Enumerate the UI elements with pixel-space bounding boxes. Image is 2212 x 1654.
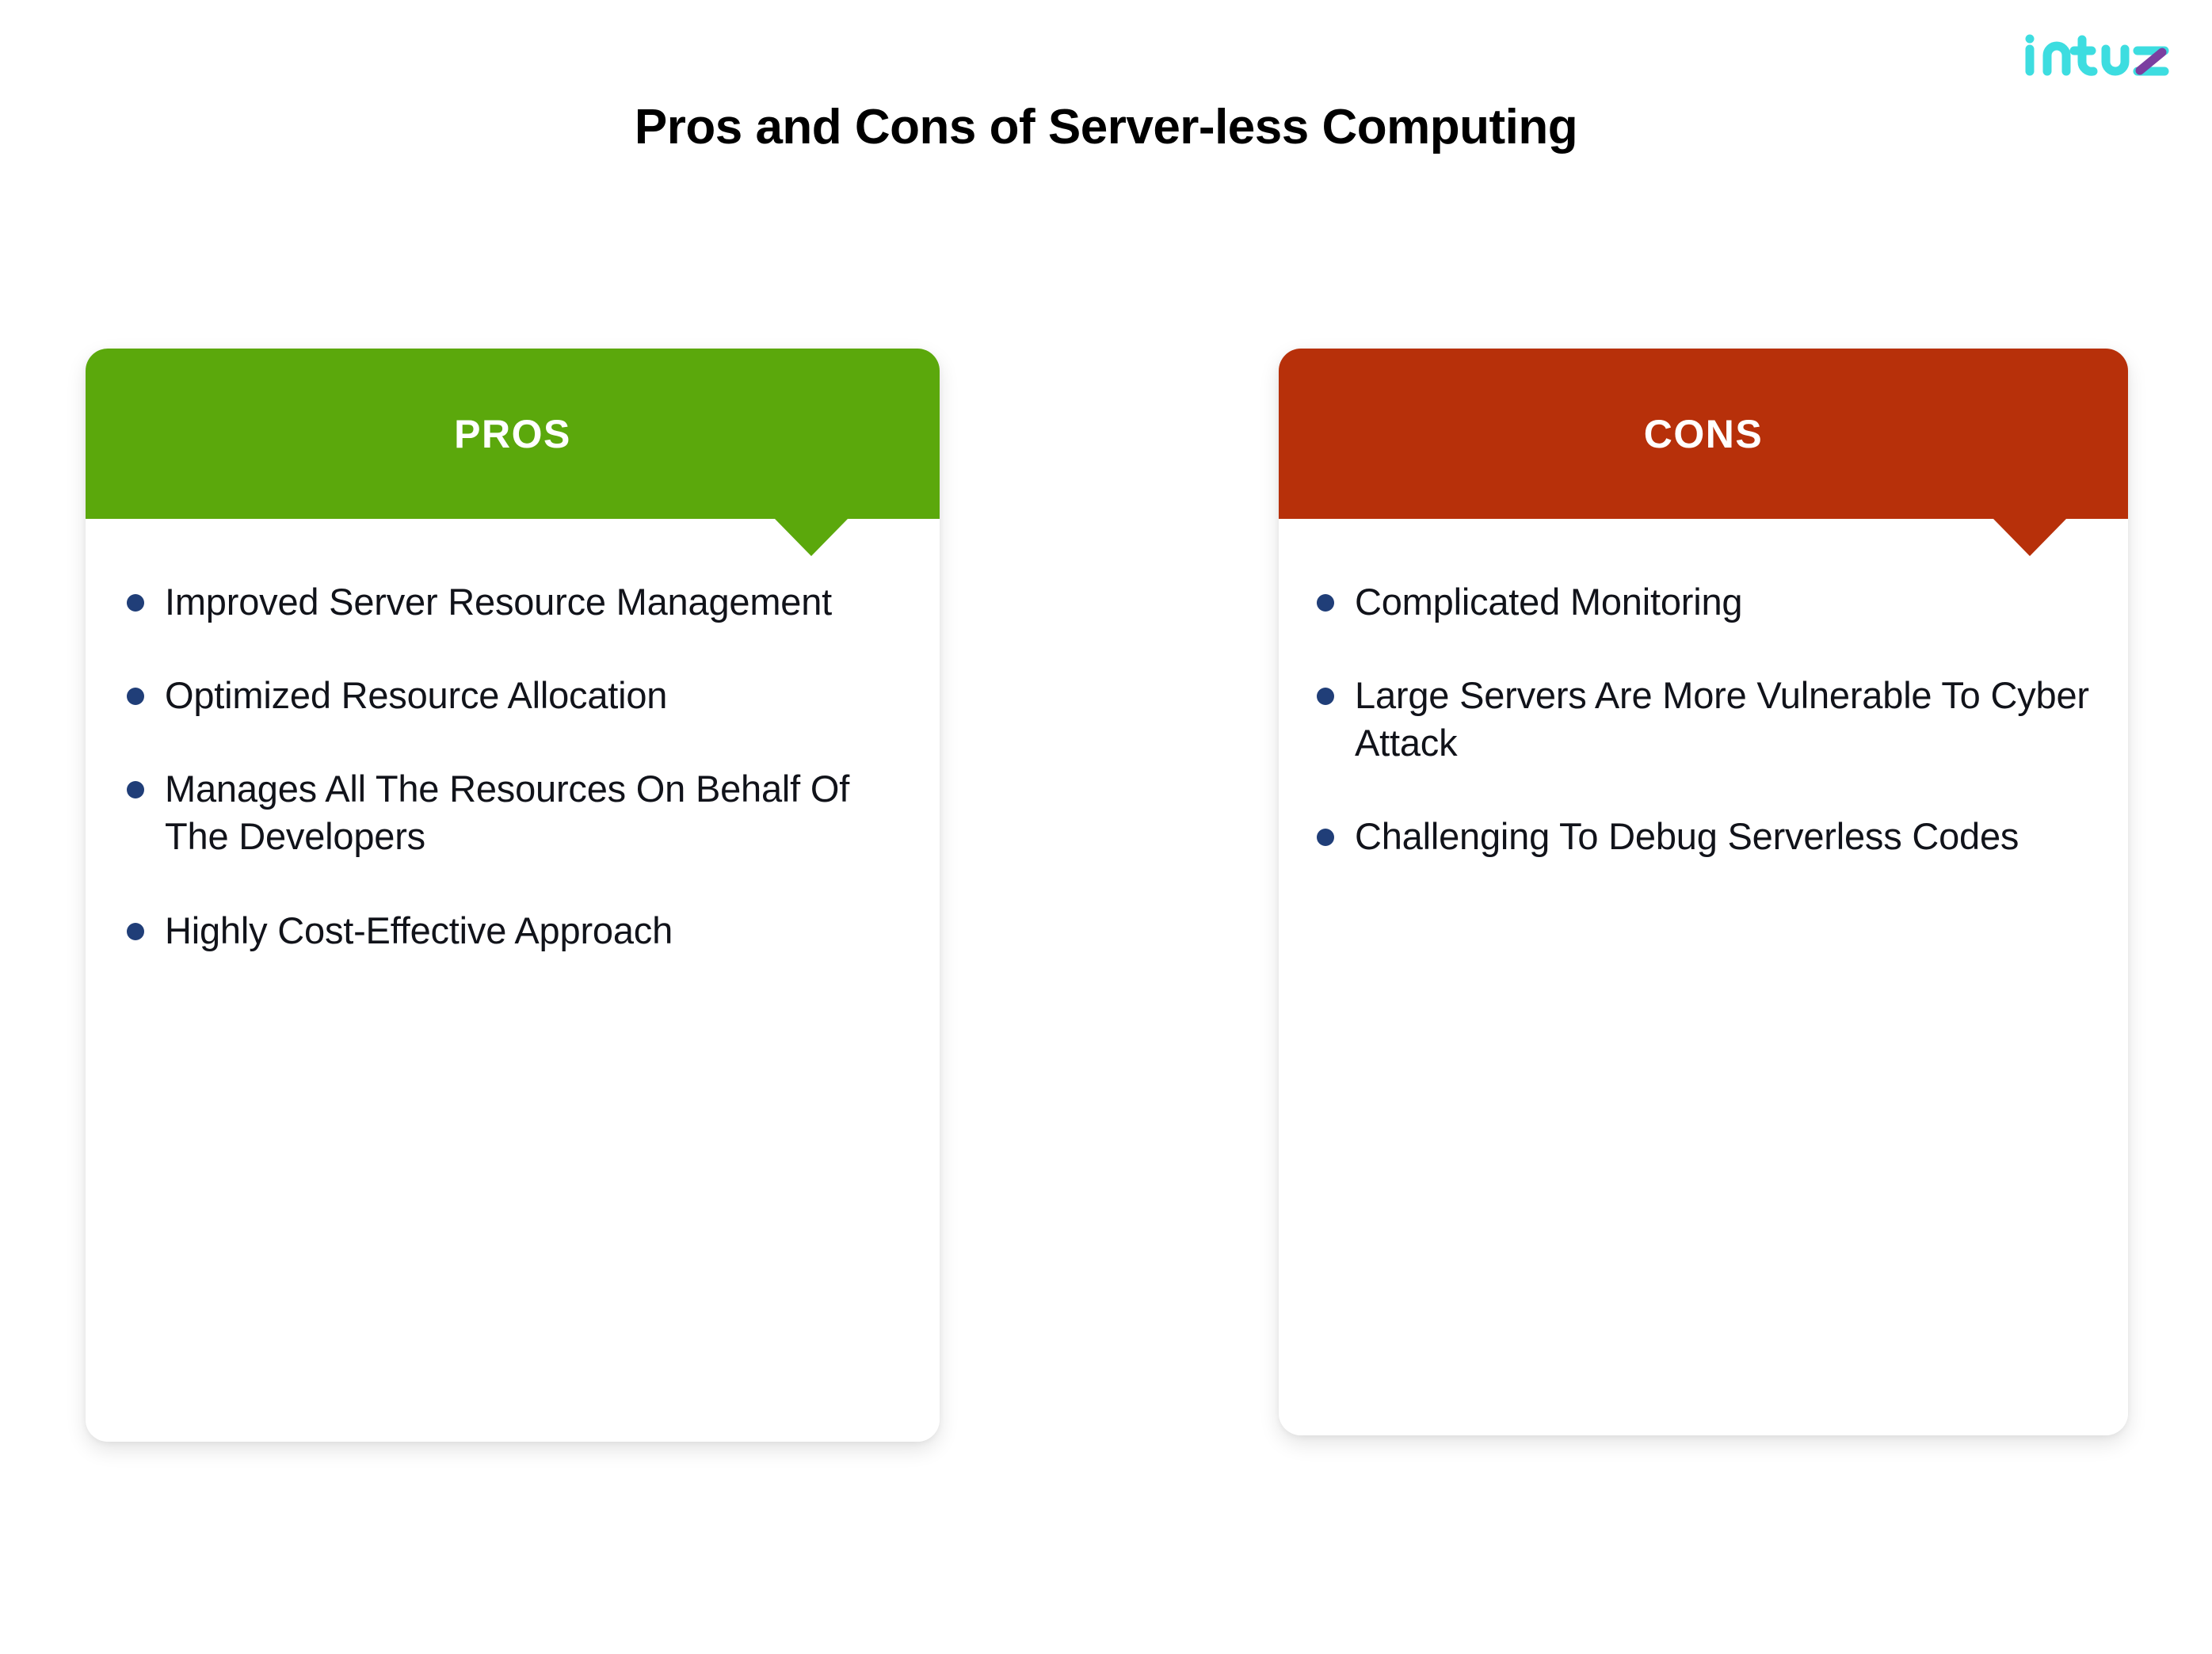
list-item-label: Large Servers Are More Vulnerable To Cyb… xyxy=(1355,672,2093,767)
pros-card-header: PROS xyxy=(86,349,940,519)
list-item-label: Improved Server Resource Management xyxy=(165,578,832,626)
intuz-logo-icon xyxy=(2023,32,2174,78)
pros-bullet-list: Improved Server Resource Management Opti… xyxy=(86,578,940,1000)
bullet-dot-icon xyxy=(1317,594,1334,612)
cons-header-tail-icon xyxy=(1993,519,2066,556)
list-item: Optimized Resource Allocation xyxy=(127,672,898,719)
list-item: Challenging To Debug Serverless Codes xyxy=(1317,813,2093,860)
list-item: Highly Cost-Effective Approach xyxy=(127,907,898,955)
bullet-dot-icon xyxy=(127,923,144,940)
bullet-dot-icon xyxy=(1317,688,1334,705)
cons-card: CONS Complicated Monitoring Large Server… xyxy=(1279,349,2128,1435)
pros-card: PROS Improved Server Resource Management… xyxy=(86,349,940,1442)
bullet-dot-icon xyxy=(127,594,144,612)
list-item: Large Servers Are More Vulnerable To Cyb… xyxy=(1317,672,2093,767)
cons-card-body: CONS Complicated Monitoring Large Server… xyxy=(1279,349,2128,1435)
cons-bullet-list: Complicated Monitoring Large Servers Are… xyxy=(1279,578,2128,907)
pros-header-tail-icon xyxy=(775,519,848,556)
list-item-label: Challenging To Debug Serverless Codes xyxy=(1355,813,2019,860)
page-title: Pros and Cons of Server-less Computing xyxy=(0,99,2212,155)
bullet-dot-icon xyxy=(127,781,144,798)
pros-header-label: PROS xyxy=(454,411,571,457)
list-item: Manages All The Resources On Behalf Of T… xyxy=(127,765,898,860)
bullet-dot-icon xyxy=(127,688,144,705)
list-item-label: Optimized Resource Allocation xyxy=(165,672,667,719)
cons-card-header: CONS xyxy=(1279,349,2128,519)
bullet-dot-icon xyxy=(1317,829,1334,846)
list-item: Complicated Monitoring xyxy=(1317,578,2093,626)
list-item: Improved Server Resource Management xyxy=(127,578,898,626)
intuz-logo xyxy=(2016,30,2174,79)
pros-card-body: PROS Improved Server Resource Management… xyxy=(86,349,940,1442)
cons-header-label: CONS xyxy=(1644,411,1763,457)
list-item-label: Complicated Monitoring xyxy=(1355,578,1742,626)
list-item-label: Manages All The Resources On Behalf Of T… xyxy=(165,765,898,860)
list-item-label: Highly Cost-Effective Approach xyxy=(165,907,673,955)
